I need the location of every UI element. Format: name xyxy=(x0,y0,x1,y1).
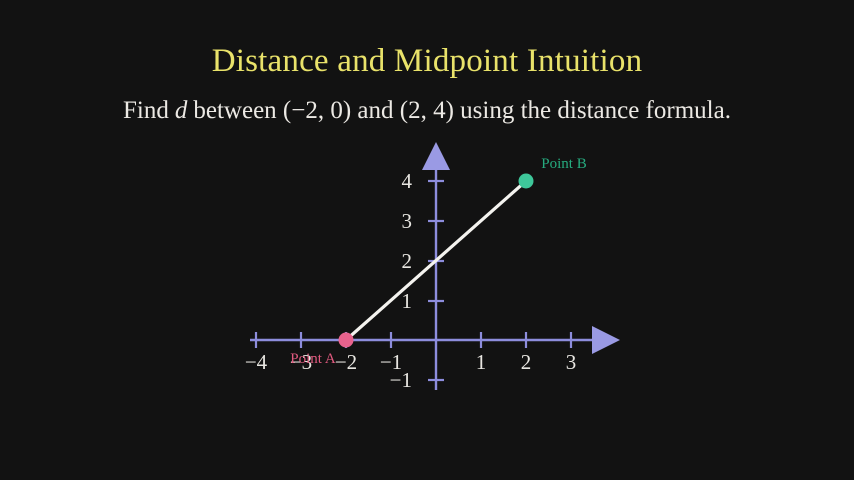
coordinate-plane: −4 −3 −2 −1 1 2 3 4 3 2 1 −1 Point A Poi… xyxy=(0,0,854,480)
point-a-label: Point A xyxy=(278,352,348,367)
y-tick-label-3: 3 xyxy=(382,211,412,232)
y-axis-arrow-icon xyxy=(422,142,450,170)
x-tick-label-3: 3 xyxy=(551,352,591,373)
y-tick-label-1: 1 xyxy=(382,291,412,312)
point-a-dot xyxy=(339,333,354,348)
y-tick-label-4: 4 xyxy=(382,171,412,192)
y-tick-label-2: 2 xyxy=(382,251,412,272)
x-tick-label-1: 1 xyxy=(461,352,501,373)
point-b-label: Point B xyxy=(528,157,600,172)
point-b-dot xyxy=(519,174,534,189)
x-axis-arrow-icon xyxy=(592,326,620,354)
x-tick-label--4: −4 xyxy=(236,352,276,373)
x-tick-label-2: 2 xyxy=(506,352,546,373)
y-tick-label--1: −1 xyxy=(374,370,412,391)
slide-canvas: Distance and Midpoint Intuition Finddbet… xyxy=(0,0,854,480)
